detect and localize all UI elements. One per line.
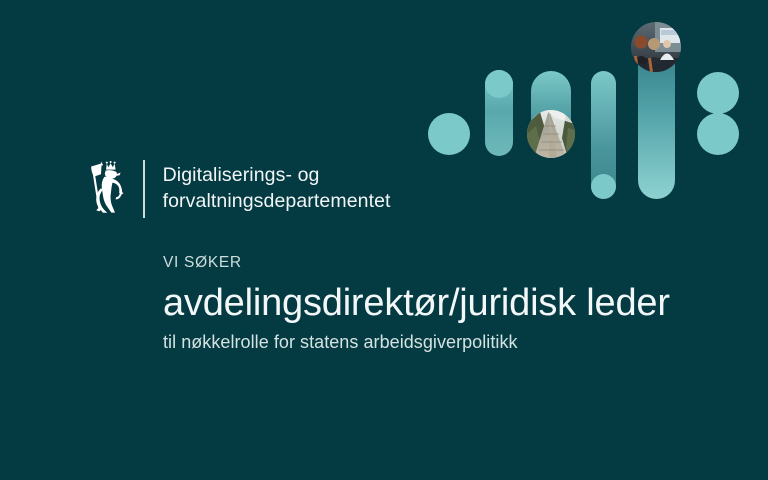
decor-pill-3 [531, 71, 571, 156]
ministry-name: Digitaliserings- og forvaltningsdepartem… [163, 163, 391, 215]
job-advert-poster: Digitaliserings- og forvaltningsdepartem… [0, 0, 768, 480]
decor-pill-2 [485, 70, 513, 156]
decor-pill-5 [638, 32, 675, 199]
job-subtitle: til nøkkelrolle for statens arbeidsgiver… [163, 331, 743, 354]
decor-photo-meeting [631, 22, 681, 72]
decor-circle-1 [428, 113, 470, 155]
decor-circle-top-right [697, 72, 739, 114]
logo-divider [143, 160, 145, 218]
job-title: avdelingsdirektør/juridisk leder [163, 282, 743, 325]
decor-pill-4 [591, 71, 616, 199]
decor-circle-bottom-right [697, 113, 739, 155]
decor-photo-boardwalk [527, 110, 575, 158]
eyebrow-label: VI SØKER [163, 254, 743, 273]
headline-block: VI SØKER avdelingsdirektør/juridisk lede… [163, 254, 743, 354]
norwegian-coat-of-arms-icon [88, 160, 130, 218]
ministry-logo-lockup: Digitaliserings- og forvaltningsdepartem… [88, 160, 391, 218]
